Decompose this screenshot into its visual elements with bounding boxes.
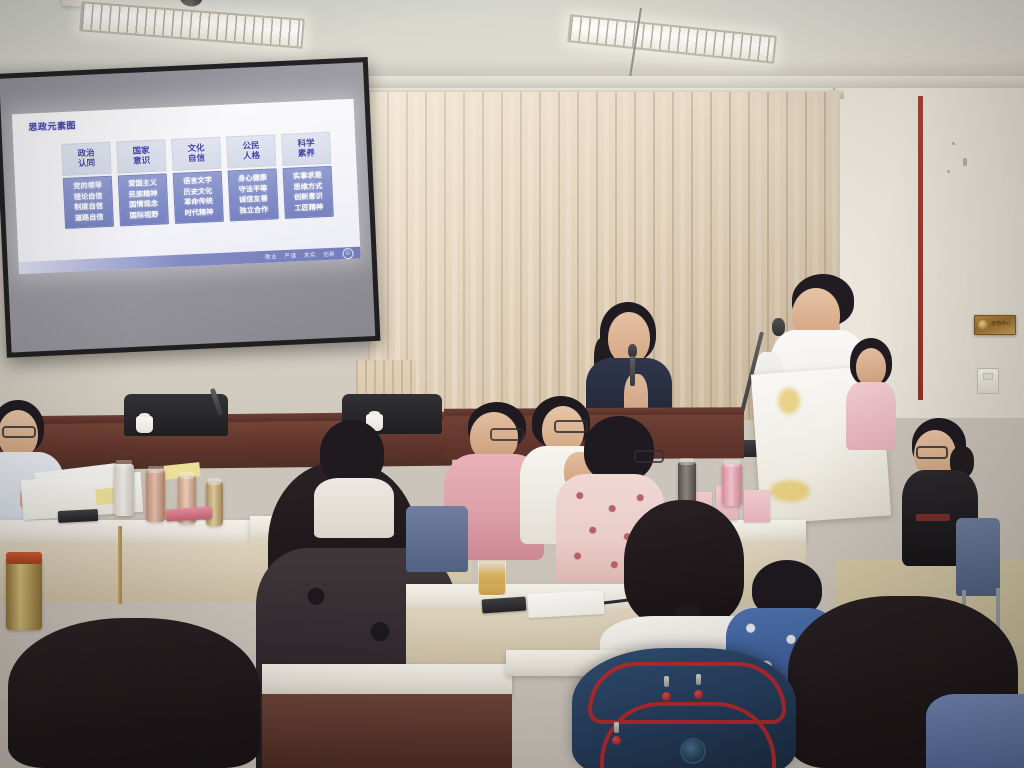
column-items: 身心健康 守法平等 诚信友善 独立合作 — [228, 168, 279, 221]
heading-line-2: 自信 — [188, 154, 205, 164]
head — [856, 348, 886, 386]
presentation-slide: 思政元素图 政治 认同 党的领导 理论自信 制度自信 道路自信 — [12, 99, 361, 274]
slide-column-3: 文化 自信 语言文字 历史文化 革命传统 时代精神 — [171, 137, 224, 224]
column-items: 党的领导 理论自信 制度自信 道路自信 — [63, 176, 114, 229]
column-item: 身心健康 — [238, 173, 267, 184]
thermos-rosegold — [146, 470, 165, 522]
poster-highlight-mark — [770, 480, 810, 502]
wall-hook — [963, 158, 967, 166]
column-items: 语言文字 历史文化 革命传统 时代精神 — [173, 171, 224, 224]
column-item: 理论自信 — [74, 191, 103, 202]
column-item: 民族精神 — [128, 188, 157, 199]
heading-line-2: 认同 — [78, 159, 95, 169]
paper-sheet-row2 — [527, 590, 604, 618]
column-item: 革命传统 — [184, 197, 213, 208]
projection-screen-surface: 思政元素图 政治 认同 党的领导 理论自信 制度自信 道路自信 — [0, 62, 375, 352]
tea-glass — [478, 560, 506, 596]
footer-word: 敬业 — [265, 252, 278, 261]
column-item: 国情观念 — [129, 199, 158, 210]
column-heading: 国家 意识 — [116, 139, 166, 173]
person-pale-top-mid — [320, 420, 390, 530]
classroom-scene: 示范中心 思政元素图 政治 认同 党的领导 理论自信 — [0, 0, 1024, 768]
eyeglasses-icon — [2, 426, 36, 438]
thermos-white — [114, 464, 134, 516]
torso — [314, 478, 394, 538]
wall-plaque: 示范中心 — [974, 315, 1016, 335]
microphone-head-icon — [772, 318, 785, 336]
column-item: 道路自信 — [75, 212, 104, 223]
plaque-label: 示范中心 — [991, 322, 1011, 328]
projection-screen: 思政元素图 政治 认同 党的领导 理论自信 制度自信 道路自信 — [0, 57, 380, 358]
wall-nail — [952, 142, 955, 145]
heading-line-2: 人格 — [243, 151, 260, 161]
column-item: 诚信友善 — [239, 194, 268, 205]
hair — [584, 416, 654, 482]
backpack-zipper-pull-3[interactable] — [612, 736, 621, 745]
light-switch-plate[interactable] — [977, 368, 999, 394]
thermos-lid-red — [6, 552, 42, 564]
wall-red-stripe — [918, 96, 923, 400]
hair — [8, 618, 260, 768]
slide-column-5: 科学 素养 实事求是 思维方式 创新意识 工匠精神 — [281, 132, 334, 219]
poster-highlight-mark — [778, 388, 800, 414]
backpack-zipper-pull-2[interactable] — [694, 690, 703, 699]
school-logo-icon: ◎ — [342, 247, 353, 258]
slide-footer: 敬业 严谨 求实 创新 ◎ — [19, 247, 361, 275]
slide-title: 思政元素图 — [28, 106, 346, 133]
column-item: 爱国主义 — [128, 178, 157, 189]
backpack-zipper-tab-1[interactable] — [664, 676, 669, 687]
column-item: 工匠精神 — [294, 202, 323, 213]
slide-columns: 政治 认同 党的领导 理论自信 制度自信 道路自信 国家 — [61, 132, 334, 229]
heading-line-2: 素养 — [298, 149, 315, 159]
person-behind-speaker — [846, 338, 902, 448]
chair-blue-left[interactable] — [406, 506, 468, 572]
footer-word: 严谨 — [284, 251, 297, 260]
backpack-zipper-tab-3[interactable] — [614, 722, 619, 733]
column-items: 实事求是 思维方式 创新意识 工匠精神 — [283, 166, 334, 219]
desk-divider — [118, 526, 122, 604]
eyeglasses-icon — [916, 446, 948, 459]
thermos-gold — [206, 482, 223, 526]
desk-foreground — [262, 664, 512, 696]
desk-front-foreground — [262, 694, 512, 768]
column-heading: 政治 认同 — [61, 142, 111, 176]
column-item: 时代精神 — [184, 207, 213, 218]
plaque-logo-icon — [978, 320, 988, 330]
backpack-zipper-pull-1[interactable] — [662, 692, 671, 701]
column-heading: 科学 素养 — [281, 132, 331, 166]
person-foreground-right-shoulder — [926, 694, 1024, 768]
eyeglasses-icon — [634, 450, 664, 463]
phone-black[interactable] — [58, 509, 99, 523]
backpack-zipper-tab-2[interactable] — [696, 674, 701, 685]
footer-word: 创新 — [323, 250, 336, 259]
column-items: 爱国主义 民族精神 国情观念 国际视野 — [118, 173, 169, 226]
column-item: 守法平等 — [238, 183, 267, 194]
tshirt-logo — [916, 514, 950, 521]
column-item: 党的领导 — [73, 180, 102, 191]
slide-column-4: 公民 人格 身心健康 守法平等 诚信友善 独立合作 — [226, 134, 279, 221]
column-item: 制度自信 — [74, 202, 103, 213]
column-item: 独立合作 — [239, 205, 268, 216]
footer-word: 求实 — [304, 251, 317, 260]
torso — [846, 382, 896, 450]
hair — [320, 420, 384, 486]
backpack — [572, 648, 796, 768]
teacup-left — [136, 416, 153, 433]
slide-column-1: 政治 认同 党的领导 理论自信 制度自信 道路自信 — [61, 142, 114, 229]
column-item: 思维方式 — [293, 181, 322, 192]
wall-nail — [947, 170, 950, 173]
chair-blue-right[interactable] — [956, 518, 1000, 596]
slide-column-2: 国家 意识 爱国主义 民族精神 国情观念 国际视野 — [116, 139, 169, 226]
microphone-body — [630, 356, 635, 386]
column-heading: 文化 自信 — [171, 137, 221, 171]
eyeglasses-icon — [490, 428, 524, 441]
backpack-logo-icon — [680, 738, 706, 764]
column-item: 实事求是 — [293, 170, 322, 181]
column-item: 国际视野 — [129, 210, 158, 221]
column-item: 历史文化 — [183, 186, 212, 197]
column-heading: 公民 人格 — [226, 134, 276, 168]
column-item: 语言文字 — [183, 175, 212, 186]
heading-line-2: 意识 — [133, 156, 150, 166]
person-foreground-bottom-left — [8, 618, 260, 768]
column-item: 创新意识 — [294, 192, 323, 203]
